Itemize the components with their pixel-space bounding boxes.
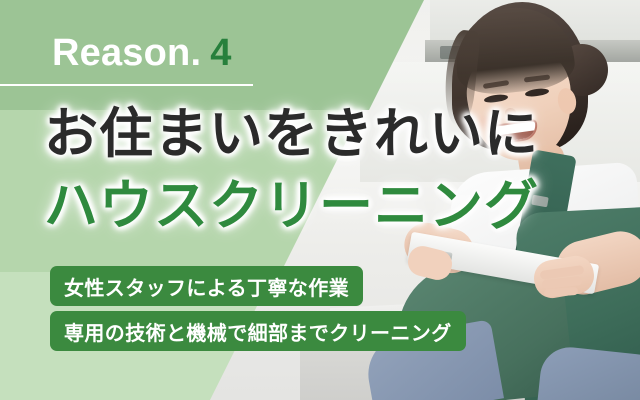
headline-line-2: ハウスクリーニング [44,176,539,238]
feature-badge-2: 専用の技術と機械で細部までクリーニング [50,311,466,351]
headline-line-1: お住まいをきれいに [44,104,539,166]
promo-banner: Reason. 4 お住まいをきれいに ハウスクリーニング 女性スタッフによる丁… [0,0,640,400]
divider-rule [0,84,253,86]
eyebrow-label: Reason. 4 [52,34,231,72]
eyebrow-number: 4 [210,34,231,72]
eyebrow-word: Reason. [52,34,201,72]
feature-badge-1: 女性スタッフによる丁寧な作業 [50,266,363,306]
banner-content: Reason. 4 お住まいをきれいに ハウスクリーニング 女性スタッフによる丁… [0,0,640,400]
